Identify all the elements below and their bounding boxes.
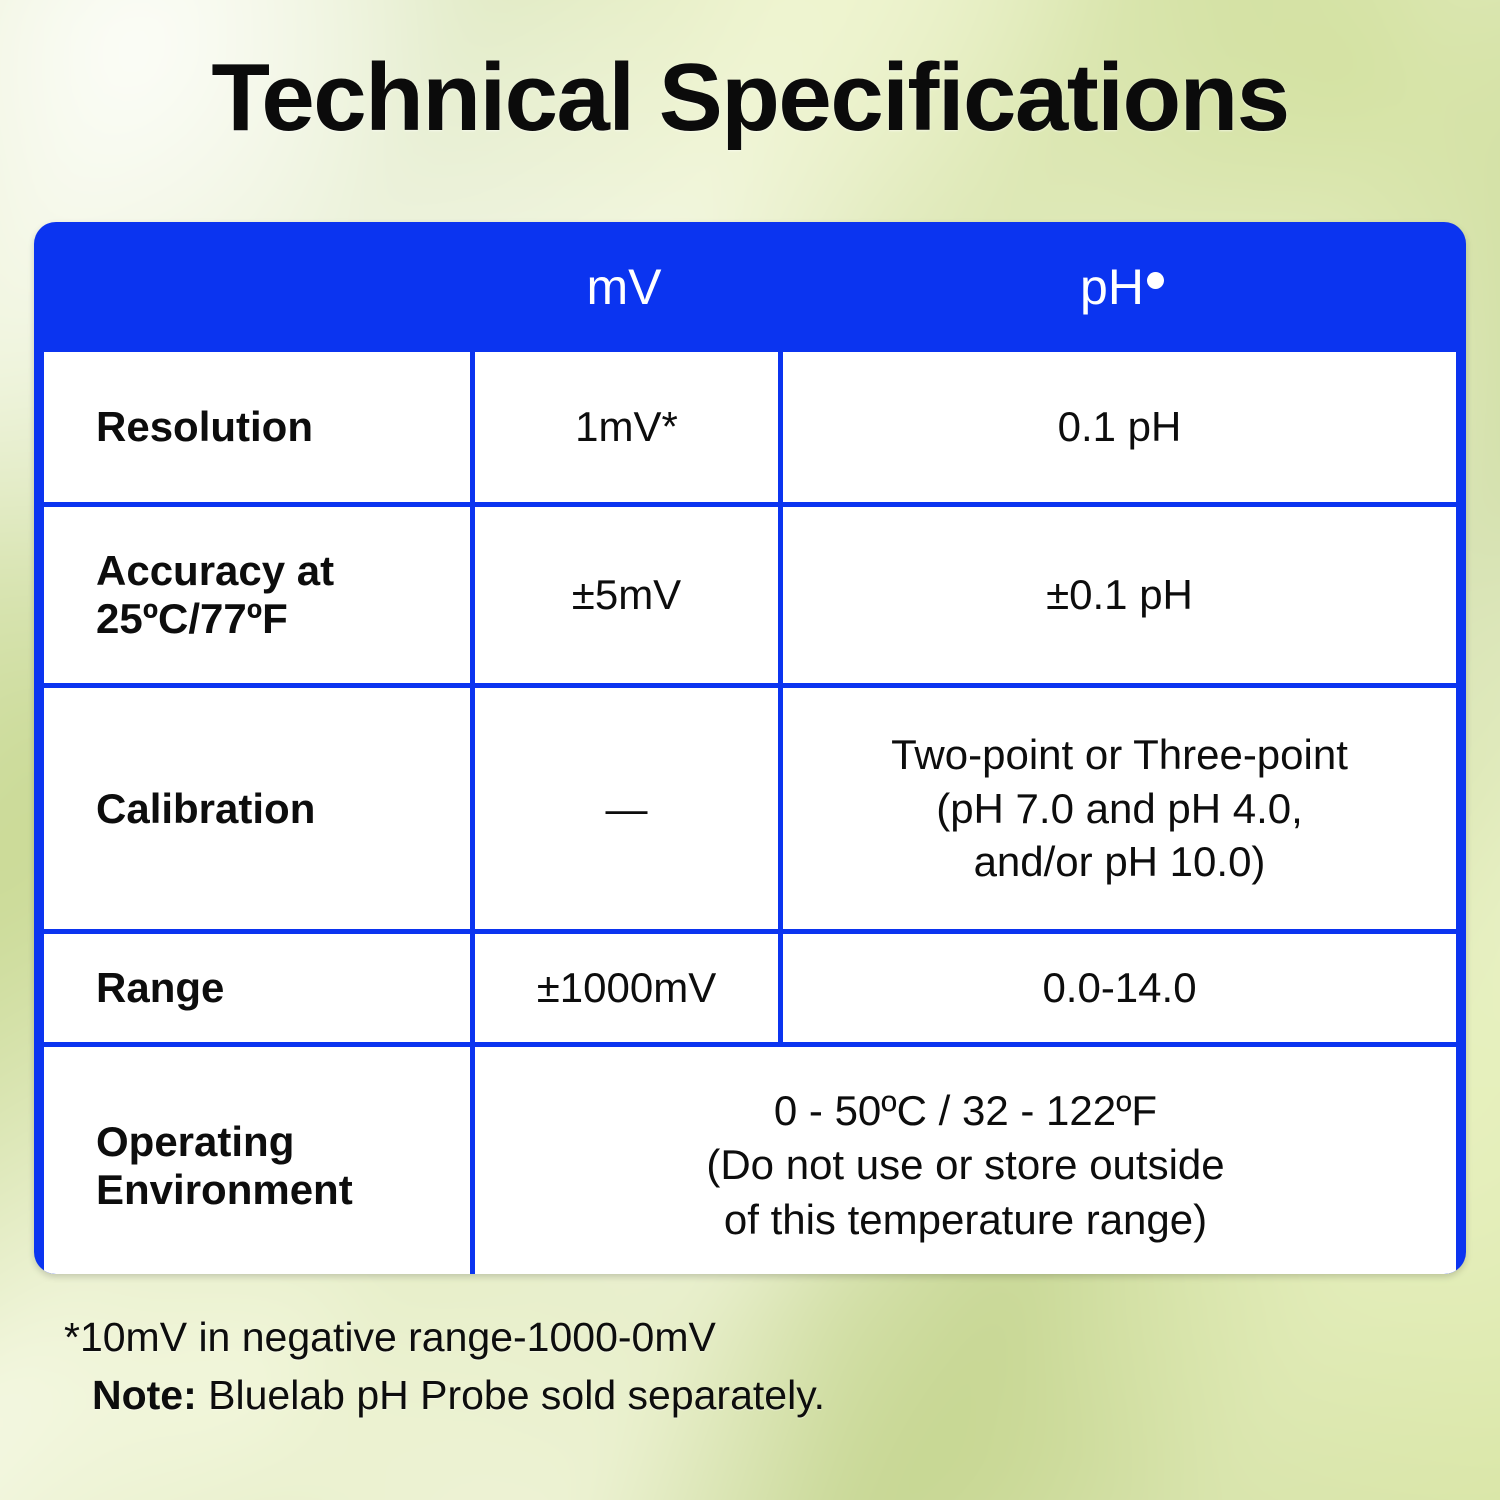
row-label-operating-environment: Operating Environment — [44, 1047, 470, 1274]
row-value-calibration-mv: — — [475, 688, 778, 929]
row-label-range: Range — [44, 934, 470, 1042]
row-value-range-ph: 0.0-14.0 — [783, 934, 1456, 1042]
bullet-marker-icon — [1147, 272, 1164, 289]
column-header-ph-label: pH — [1080, 259, 1144, 315]
footnote-asterisk: *10mV in negative range-1000-0mV — [0, 1308, 1500, 1366]
table-row: Resolution 1mV* 0.1 pH — [44, 352, 1456, 502]
row-value-operating-environment: 0 - 50ºC / 32 - 122ºF (Do not use or sto… — [475, 1047, 1456, 1274]
table-header-row: mV pH — [34, 222, 1466, 352]
footnotes: *10mV in negative range-1000-0mV Note: B… — [0, 1308, 1500, 1424]
row-value-calibration-ph: Two-point or Three-point (pH 7.0 and pH … — [783, 688, 1456, 929]
row-label-resolution: Resolution — [44, 352, 470, 502]
specifications-page: Technical Specifications mV pH Resolutio… — [0, 0, 1500, 1500]
page-title: Technical Specifications — [0, 48, 1500, 149]
table-row: Accuracy at 25ºC/77ºF ±5mV ±0.1 pH — [44, 507, 1456, 683]
table-row: Calibration — Two-point or Three-point (… — [44, 688, 1456, 929]
row-value-resolution-ph: 0.1 pH — [783, 352, 1456, 502]
row-value-resolution-mv: 1mV* — [475, 352, 778, 502]
specifications-table: mV pH Resolution 1mV* 0.1 pH Accuracy at… — [34, 222, 1466, 1274]
row-value-range-mv: ±1000mV — [475, 934, 778, 1042]
column-header-ph: pH — [778, 262, 1466, 312]
row-value-accuracy-mv: ±5mV — [475, 507, 778, 683]
column-header-mv: mV — [470, 262, 778, 312]
row-label-calibration: Calibration — [44, 688, 470, 929]
footnote-note-text: Bluelab pH Probe sold separately. — [197, 1372, 825, 1418]
table-body: Resolution 1mV* 0.1 pH Accuracy at 25ºC/… — [44, 352, 1456, 1274]
row-value-accuracy-ph: ±0.1 pH — [783, 507, 1456, 683]
table-row: Operating Environment 0 - 50ºC / 32 - 12… — [44, 1047, 1456, 1274]
row-label-accuracy: Accuracy at 25ºC/77ºF — [44, 507, 470, 683]
footnote-note-prefix: Note: — [92, 1372, 197, 1418]
footnote-note: Note: Bluelab pH Probe sold separately. — [0, 1366, 1500, 1424]
table-row: Range ±1000mV 0.0-14.0 — [44, 934, 1456, 1042]
